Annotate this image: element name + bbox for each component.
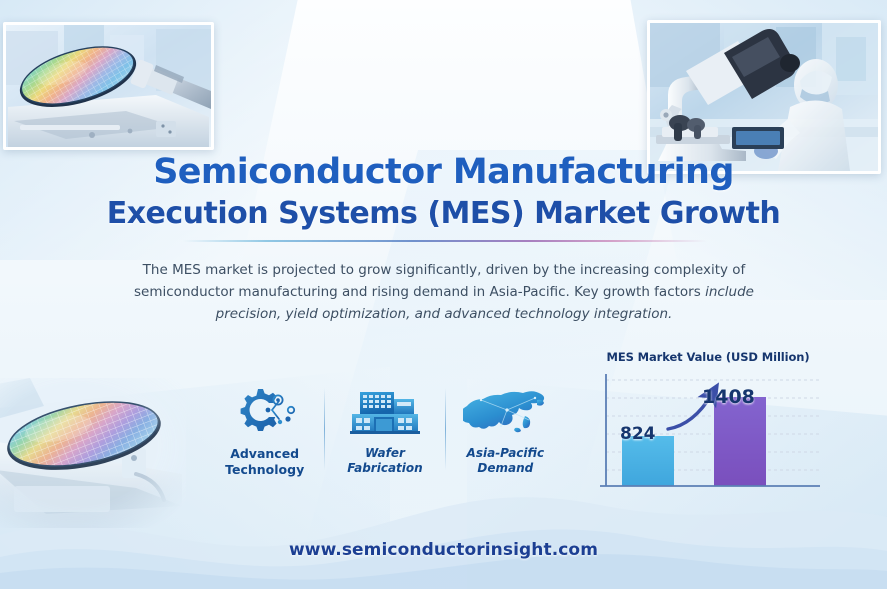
chart-data-label-1408: 1408 [702,386,755,408]
infographic-poster: Semiconductor Manufacturing Execution Sy… [0,0,887,589]
page-title: Semiconductor Manufacturing Execution Sy… [0,155,887,229]
feature-list: Advanced Technology [205,382,565,502]
feature-wafer-fabrication: Wafer Fabrication [325,382,444,476]
feature-label-asia-pacific-demand: Asia-Pacific Demand [446,446,565,476]
asia-map-icon [446,382,565,440]
page-title-line-2: Execution Systems (MES) Market Growth [0,199,887,229]
feature-asia-pacific-demand: Asia-Pacific Demand [446,382,565,476]
microscope-cleanroom-photo [647,20,881,174]
page-title-line-1: Semiconductor Manufacturing [0,155,887,190]
feature-label-advanced-technology: Advanced Technology [205,446,324,477]
chart-data-label-824: 824 [620,424,656,444]
chart-bar-1408 [714,397,766,486]
chart-title: MES Market Value (USD Million) [592,350,824,364]
chart-plot-area: 824 1408 [592,372,824,496]
factory-icon [325,382,444,440]
wafer-stage-photo [0,378,186,528]
market-value-chart: MES Market Value (USD Million) [592,350,824,510]
feature-label-wafer-fabrication: Wafer Fabrication [325,446,444,476]
body-paragraph-part-1: The MES market is projected to grow sign… [134,262,745,300]
body-paragraph: The MES market is projected to grow sign… [120,260,768,326]
wafer-robot-arm-photo [3,22,214,150]
title-divider [183,240,707,242]
website-url[interactable]: www.semiconductorinsight.com [0,540,887,560]
gear-circuit-icon [205,382,324,440]
feature-advanced-technology: Advanced Technology [205,382,324,477]
